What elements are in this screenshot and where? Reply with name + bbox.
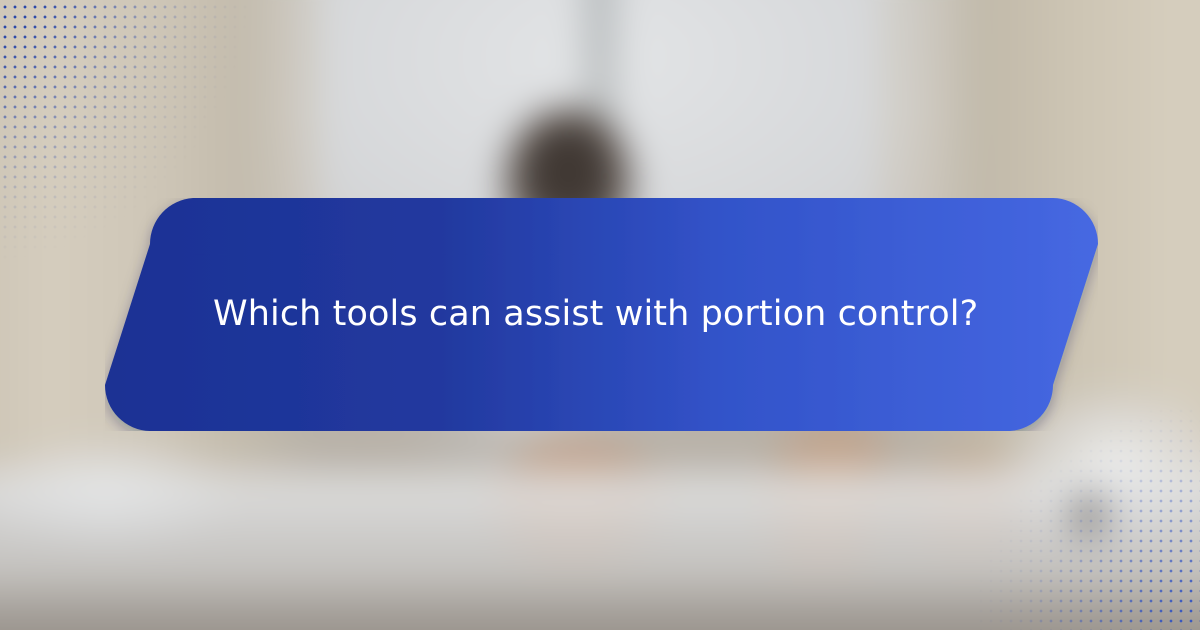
background-dark-object — [1066, 485, 1112, 545]
headline-banner: Which tools can assist with portion cont… — [105, 198, 1098, 431]
page-title: Which tools can assist with portion cont… — [105, 293, 1038, 337]
social-share-card: Which tools can assist with portion cont… — [0, 0, 1200, 630]
headline-text-wrap: Which tools can assist with portion cont… — [105, 198, 1098, 431]
background-bed-frame — [0, 592, 1200, 630]
